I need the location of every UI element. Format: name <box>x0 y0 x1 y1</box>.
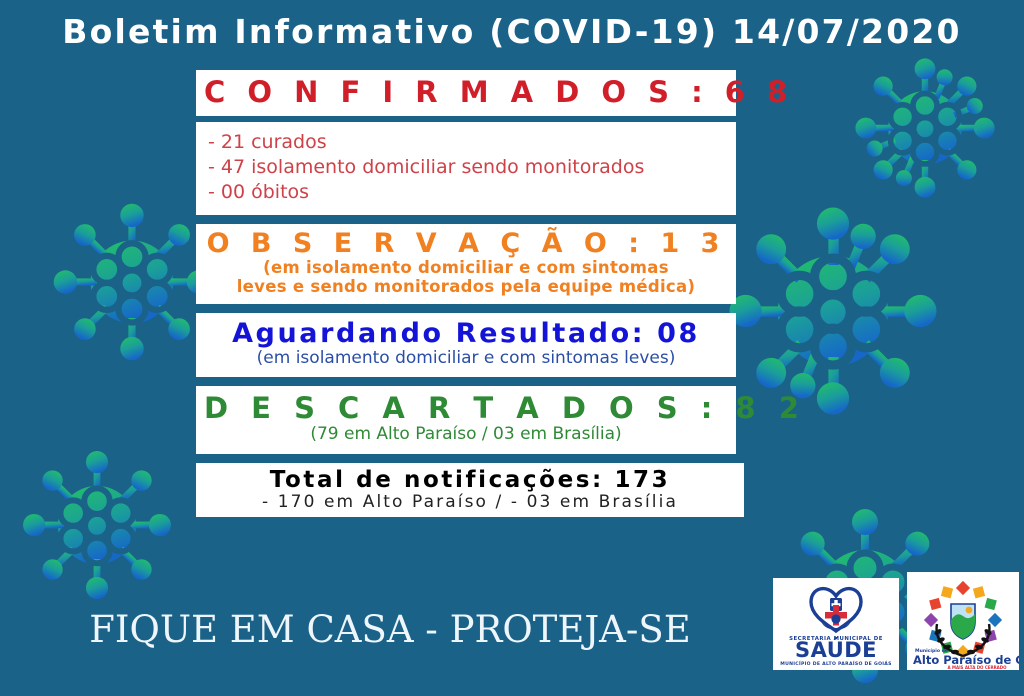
logo-brasao-municipal: Município de Alto Paraíso de Goiás A MAI… <box>907 572 1019 670</box>
observacao-heading: O B S E R V A Ç Ã O : 1 3 <box>204 229 728 259</box>
observacao-subtext-line1: (em isolamento domiciliar e com sintomas <box>204 259 728 278</box>
card-confirmados: C O N F I R M A D O S : 6 8 <box>196 70 736 116</box>
aguardando-subtext: (em isolamento domiciliar e com sintomas… <box>204 349 728 369</box>
confirmados-detail-curados: - 21 curados <box>208 130 726 155</box>
bulletin-card-stack: C O N F I R M A D O S : 6 8 - 21 curados… <box>196 70 736 526</box>
logo-brasao-bottom-text: A MAIS ALTA DO CERRADO <box>948 665 1008 670</box>
confirmados-detail-obitos: - 00 óbitos <box>208 180 726 205</box>
card-confirmados-details: - 21 curados - 47 isolamento domiciliar … <box>196 122 736 214</box>
descartados-subtext: (79 em Alto Paraíso / 03 em Brasília) <box>204 425 728 445</box>
card-descartados: D E S C A R T A D O S : 8 2 (79 em Alto … <box>196 386 736 453</box>
total-heading: Total de notificações: 173 <box>202 468 738 494</box>
confirmados-heading: C O N F I R M A D O S : 6 8 <box>204 76 728 108</box>
card-observacao: O B S E R V A Ç Ã O : 1 3 (em isolamento… <box>196 224 736 304</box>
descartados-heading: D E S C A R T A D O S : 8 2 <box>204 392 728 424</box>
virus-decoration-left-upper <box>42 192 222 372</box>
logo-group: SECRETARIA MUNICIPAL DE SAÚDE MUNICÍPIO … <box>773 572 1019 670</box>
virus-decoration-left-lower <box>12 440 182 610</box>
virus-decoration-top-right <box>845 48 1005 208</box>
total-subtext: - 170 em Alto Paraíso / - 03 em Brasília <box>202 493 738 513</box>
observacao-subtext-line2: leves e sendo monitorados pela equipe mé… <box>204 278 728 297</box>
confirmados-detail-isolamento: - 47 isolamento domiciliar sendo monitor… <box>208 155 726 180</box>
page-title: Boletim Informativo (COVID-19) 14/07/202… <box>0 12 1024 51</box>
slogan-text: FIQUE EM CASA - PROTEJA-SE <box>60 608 720 651</box>
card-aguardando-resultado: Aguardando Resultado: 08 (em isolamento … <box>196 313 736 378</box>
logo-saude-main-text: SAÚDE <box>795 637 877 662</box>
observacao-subtext: (em isolamento domiciliar e com sintomas… <box>204 259 728 297</box>
aguardando-heading: Aguardando Resultado: 08 <box>204 319 728 349</box>
logo-secretaria-saude: SECRETARIA MUNICIPAL DE SAÚDE MUNICÍPIO … <box>773 578 899 670</box>
card-total-notificacoes: Total de notificações: 173 - 170 em Alto… <box>196 463 744 517</box>
